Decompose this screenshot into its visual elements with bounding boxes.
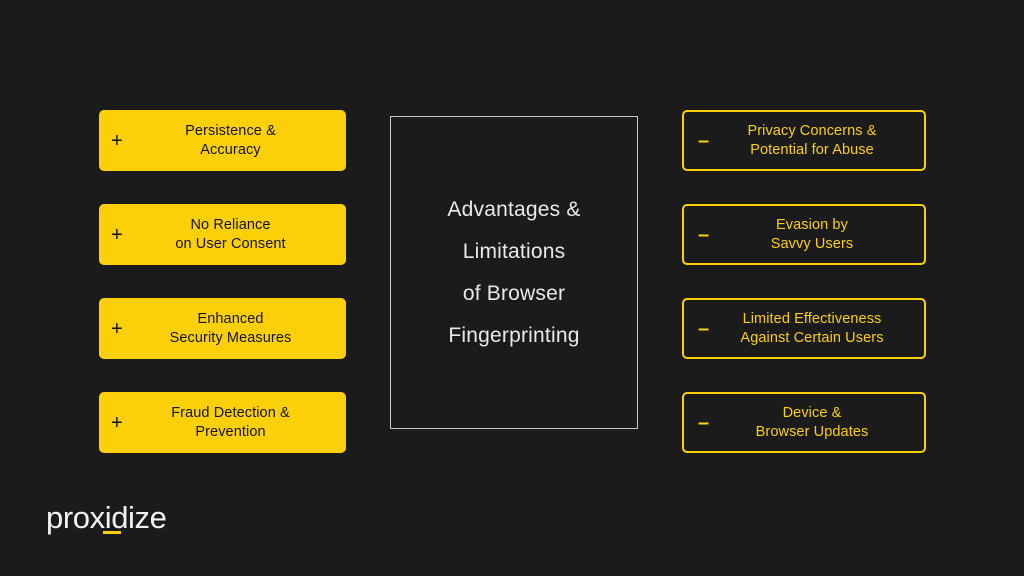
brand-logo-text: proxidize <box>46 502 166 533</box>
advantage-card-label: Fraud Detection & Prevention <box>141 404 304 442</box>
limitation-card-label: Device & Browser Updates <box>730 404 879 442</box>
advantages-column: + Persistence & Accuracy + No Reliance o… <box>99 110 346 453</box>
plus-icon: + <box>111 131 123 151</box>
limitation-card-label: Privacy Concerns & Potential for Abuse <box>721 122 886 160</box>
advantage-card-label: Enhanced Security Measures <box>140 310 306 348</box>
limitation-card[interactable]: – Privacy Concerns & Potential for Abuse <box>682 110 926 171</box>
advantage-card[interactable]: + Enhanced Security Measures <box>99 298 346 359</box>
title-line: Limitations <box>463 231 566 273</box>
minus-icon: – <box>698 319 709 339</box>
limitation-card[interactable]: – Evasion by Savvy Users <box>682 204 926 265</box>
advantage-card-label: No Reliance on User Consent <box>145 216 299 254</box>
limitations-column: – Privacy Concerns & Potential for Abuse… <box>682 110 926 453</box>
plus-icon: + <box>111 225 123 245</box>
brand-logo: proxidize <box>46 502 166 533</box>
advantage-card[interactable]: + Persistence & Accuracy <box>99 110 346 171</box>
advantage-card[interactable]: + Fraud Detection & Prevention <box>99 392 346 453</box>
title-line: Advantages & <box>447 189 580 231</box>
minus-icon: – <box>698 131 709 151</box>
minus-icon: – <box>698 225 709 245</box>
advantage-card[interactable]: + No Reliance on User Consent <box>99 204 346 265</box>
brand-logo-underline <box>103 531 121 534</box>
center-title-panel: Advantages & Limitations of Browser Fing… <box>390 116 638 429</box>
limitation-card-label: Evasion by Savvy Users <box>745 216 863 254</box>
title-line: Fingerprinting <box>448 315 579 357</box>
plus-icon: + <box>111 319 123 339</box>
slide-canvas: + Persistence & Accuracy + No Reliance o… <box>0 0 1024 576</box>
minus-icon: – <box>698 413 709 433</box>
plus-icon: + <box>111 413 123 433</box>
limitation-card[interactable]: – Device & Browser Updates <box>682 392 926 453</box>
advantage-card-label: Persistence & Accuracy <box>155 122 290 160</box>
limitation-card-label: Limited Effectiveness Against Certain Us… <box>714 310 893 348</box>
limitation-card[interactable]: – Limited Effectiveness Against Certain … <box>682 298 926 359</box>
title-line: of Browser <box>463 273 565 315</box>
